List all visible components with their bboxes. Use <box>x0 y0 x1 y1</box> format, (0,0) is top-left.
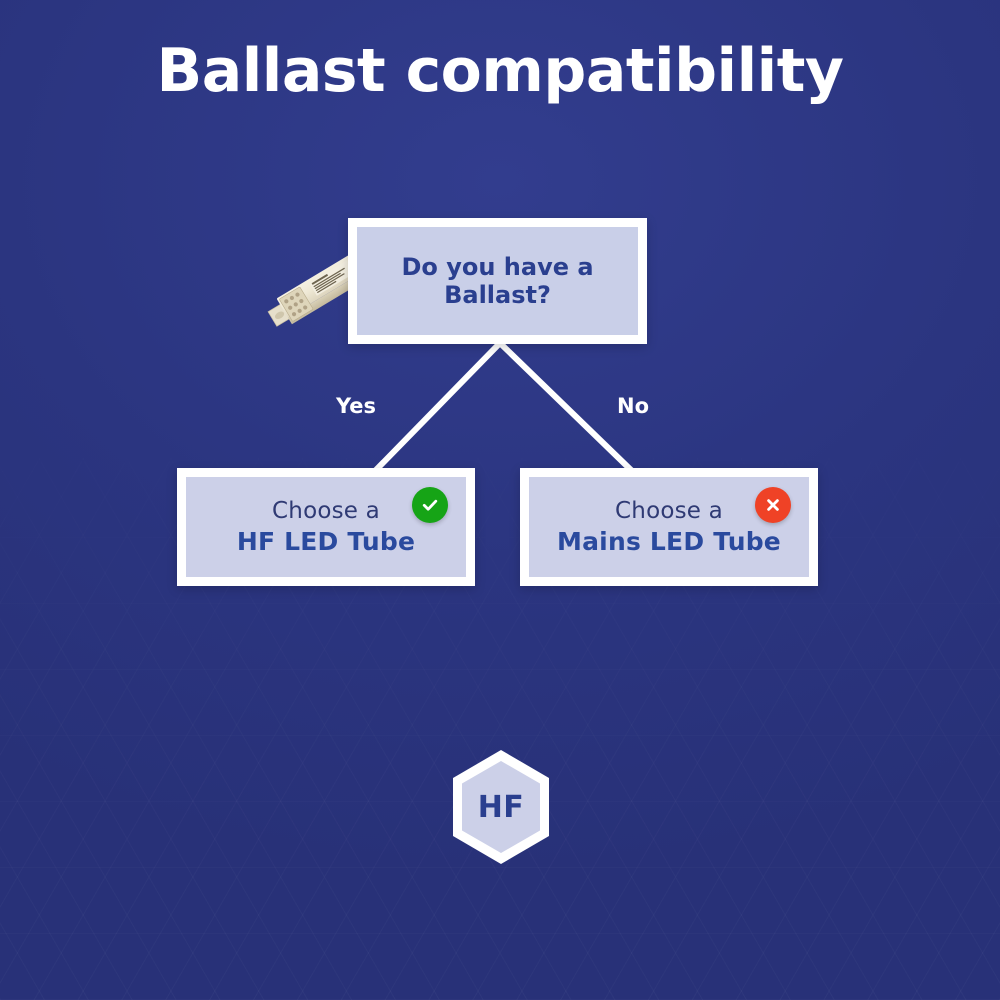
branch-label-no: No <box>617 394 649 418</box>
question-node-inner: Do you have a Ballast? <box>357 227 638 335</box>
outcome-node-hf-led-tube[interactable]: Choose a HF LED Tube <box>177 468 475 586</box>
question-node[interactable]: Do you have a Ballast? <box>348 218 647 344</box>
branch-label-yes: Yes <box>336 394 376 418</box>
connector-yes-line <box>376 344 499 470</box>
outcome-hf-product: HF LED Tube <box>237 527 415 556</box>
outcome-hf-prefix: Choose a <box>272 498 380 524</box>
cross-icon <box>755 487 791 523</box>
connector-no-line <box>501 344 631 470</box>
outcome-mains-product: Mains LED Tube <box>557 527 781 556</box>
question-line-1: Do you have a <box>401 253 593 281</box>
hf-badge-label: HF <box>450 748 552 866</box>
check-icon <box>412 487 448 523</box>
outcome-node-hf-inner: Choose a HF LED Tube <box>186 477 466 577</box>
outcome-node-mains-inner: Choose a Mains LED Tube <box>529 477 809 577</box>
outcome-mains-prefix: Choose a <box>615 498 723 524</box>
question-line-2: Ballast? <box>444 281 551 309</box>
outcome-node-mains-led-tube[interactable]: Choose a Mains LED Tube <box>520 468 818 586</box>
